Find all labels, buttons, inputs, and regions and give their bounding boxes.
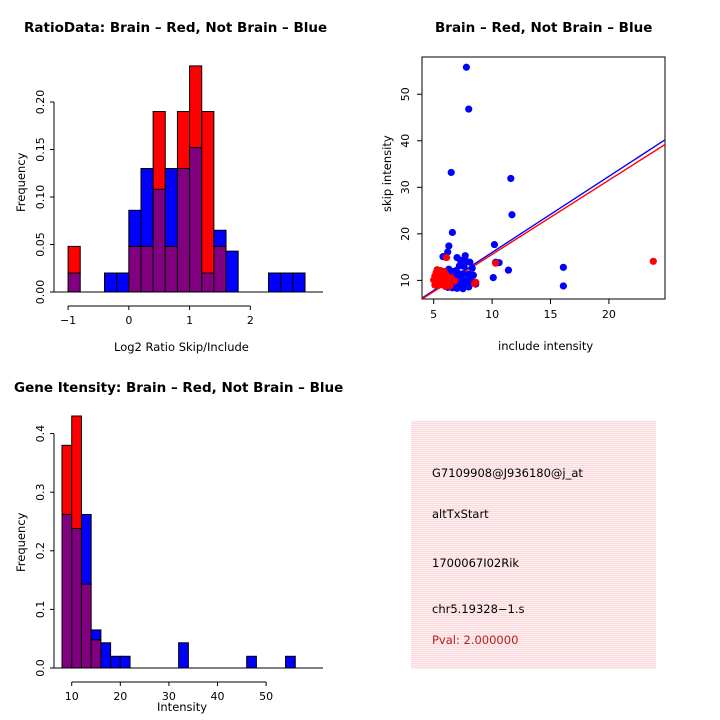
histogram-bar: [269, 273, 281, 292]
histogram-bar: [281, 273, 293, 292]
panel-scatter: Brain – Red, Not Brain – Blue 1020304050…: [360, 0, 720, 360]
scatter-point: [438, 281, 445, 288]
svg-intensity-yaxis: 0.00.10.20.30.4: [34, 425, 54, 677]
scatter-content: [422, 64, 665, 299]
gene-probe-id: G7109908@J936180@j_at: [432, 466, 583, 480]
y-axis-tick-label: 0.05: [34, 232, 47, 257]
histogram-bar-overlap: [141, 246, 153, 292]
y-axis-tick-label: 0.20: [34, 90, 47, 115]
scatter-point: [449, 229, 456, 236]
x-axis-tick-label: 2: [247, 314, 254, 327]
histogram-bar: [120, 656, 130, 668]
scatter-xaxis: 5101520: [430, 299, 616, 321]
x-axis-tick-label: 40: [211, 690, 225, 703]
x-axis-tick-label: 5: [430, 308, 437, 321]
panel-intensity-title: Gene Itensity: Brain – Red, Not Brain – …: [14, 380, 343, 396]
gene-event-type: altTxStart: [432, 507, 489, 521]
scatter-point: [465, 106, 472, 113]
scatter-point: [463, 64, 470, 71]
svg-ratio-bars: [68, 66, 305, 292]
scatter-point: [505, 267, 512, 274]
y-axis-tick-label: 50: [399, 87, 412, 101]
scatter-point: [448, 169, 455, 176]
histogram-bar-overlap: [153, 189, 165, 292]
scatter-point: [443, 254, 450, 261]
histogram-bar: [153, 112, 165, 190]
scatter-point: [451, 277, 458, 284]
x-axis-tick-label: 15: [544, 308, 558, 321]
histogram-bar: [91, 630, 101, 640]
histogram-bar: [81, 514, 91, 584]
scatter-point: [459, 285, 466, 292]
histogram-bar: [101, 643, 111, 668]
panel-ratio-title: RatioData: Brain – Red, Not Brain – Blue: [24, 20, 327, 36]
scatter-point: [462, 252, 469, 259]
histogram-bar-overlap: [68, 273, 80, 292]
scatter-point: [560, 264, 567, 271]
histogram-bar: [68, 246, 80, 273]
histogram-bar-overlap: [91, 640, 101, 668]
scatter-point: [460, 263, 467, 270]
x-axis-tick-label: 0: [125, 314, 132, 327]
histogram-bar: [247, 656, 257, 668]
ratio-histogram-plot: 0.000.050.100.150.20−1012: [0, 0, 360, 360]
panel-ratio-ylabel: Frequency: [14, 153, 28, 212]
gene-symbol: 1700067I02Rik: [432, 556, 519, 570]
x-axis-tick-label: 50: [259, 690, 273, 703]
histogram-bar-overlap: [81, 584, 91, 668]
y-axis-tick-label: 0.0: [34, 659, 47, 677]
panel-scatter-title: Brain – Red, Not Brain – Blue: [435, 20, 652, 36]
scatter-point: [508, 211, 515, 218]
histogram-bar: [293, 273, 305, 292]
scatter-point: [492, 260, 499, 267]
scatter-point: [560, 282, 567, 289]
gene-info-background: [411, 421, 656, 669]
panel-intensity-ylabel: Frequency: [14, 513, 28, 572]
histogram-bar: [165, 169, 177, 247]
panel-ratio-xlabel: Log2 Ratio Skip/Include: [114, 340, 249, 354]
histogram-bar-overlap: [202, 273, 214, 292]
x-axis-tick-label: −1: [60, 314, 76, 327]
y-axis-tick-label: 0.4: [34, 425, 47, 443]
histogram-bar: [226, 251, 238, 292]
histogram-bar: [62, 445, 72, 514]
svg-intensity-bars: [62, 416, 295, 668]
scatter-point: [445, 242, 452, 249]
x-axis-tick-label: 20: [602, 308, 616, 321]
histogram-bar: [286, 656, 296, 668]
histogram-bar: [177, 112, 189, 169]
y-axis-tick-label: 0.3: [34, 483, 47, 501]
y-axis-tick-label: 0.10: [34, 185, 47, 210]
gene-pval: Pval: 2.000000: [432, 633, 518, 647]
panel-ratio-histogram: RatioData: Brain – Red, Not Brain – Blue…: [0, 0, 360, 360]
y-axis-tick-label: 0.2: [34, 542, 47, 560]
histogram-bar-overlap: [165, 246, 177, 292]
panel-scatter-xlabel: include intensity: [498, 339, 593, 353]
histogram-bar-overlap: [62, 514, 72, 668]
y-axis-tick-label: 20: [399, 227, 412, 241]
histogram-bar: [190, 66, 202, 148]
histogram-bar: [214, 230, 226, 246]
panel-gene-info: G7109908@J936180@j_at altTxStart 1700067…: [360, 360, 720, 720]
histogram-bar: [129, 210, 141, 246]
scatter-point: [650, 258, 657, 265]
svg-ratio-xaxis: −1012: [60, 306, 254, 327]
y-axis-tick-label: 0.15: [34, 137, 47, 162]
y-axis-tick-label: 0.00: [34, 280, 47, 305]
histogram-bar: [105, 273, 117, 292]
x-axis-tick-label: 10: [65, 690, 79, 703]
x-axis-tick-label: 20: [113, 690, 127, 703]
y-axis-tick-label: 40: [399, 134, 412, 148]
x-axis-tick-label: 10: [485, 308, 499, 321]
scatter-point: [490, 274, 497, 281]
panel-intensity-histogram: Gene Itensity: Brain – Red, Not Brain – …: [0, 360, 360, 720]
y-axis-tick-label: 30: [399, 180, 412, 194]
panel-scatter-ylabel: skip intensity: [380, 135, 394, 212]
histogram-bar: [111, 656, 121, 668]
histogram-bar: [72, 416, 82, 529]
histogram-bar: [202, 112, 214, 274]
histogram-bar: [179, 643, 189, 668]
histogram-bar-overlap: [214, 246, 226, 292]
histogram-bar-overlap: [129, 246, 141, 292]
scatter-point: [471, 280, 478, 287]
histogram-bar: [141, 169, 153, 247]
histogram-bar-overlap: [177, 169, 189, 293]
scatter-point: [491, 241, 498, 248]
gene-locus: chr5.19328−1.s: [432, 602, 525, 616]
scatter-yaxis: 1020304050: [399, 87, 422, 287]
panel-intensity-xlabel: Intensity: [157, 700, 207, 714]
histogram-bar-overlap: [190, 148, 202, 292]
y-axis-tick-label: 0.1: [34, 601, 47, 619]
scatter-point: [469, 265, 476, 272]
histogram-bar-overlap: [72, 529, 82, 668]
scatter-plot: 10203040505101520: [360, 0, 720, 360]
intensity-histogram-plot: 0.00.10.20.30.41020304050: [0, 360, 360, 720]
svg-ratio-yaxis: 0.000.050.100.150.20: [34, 90, 54, 305]
histogram-bar: [117, 273, 129, 292]
y-axis-tick-label: 10: [399, 273, 412, 287]
scatter-point: [507, 175, 514, 182]
x-axis-tick-label: 1: [186, 314, 193, 327]
